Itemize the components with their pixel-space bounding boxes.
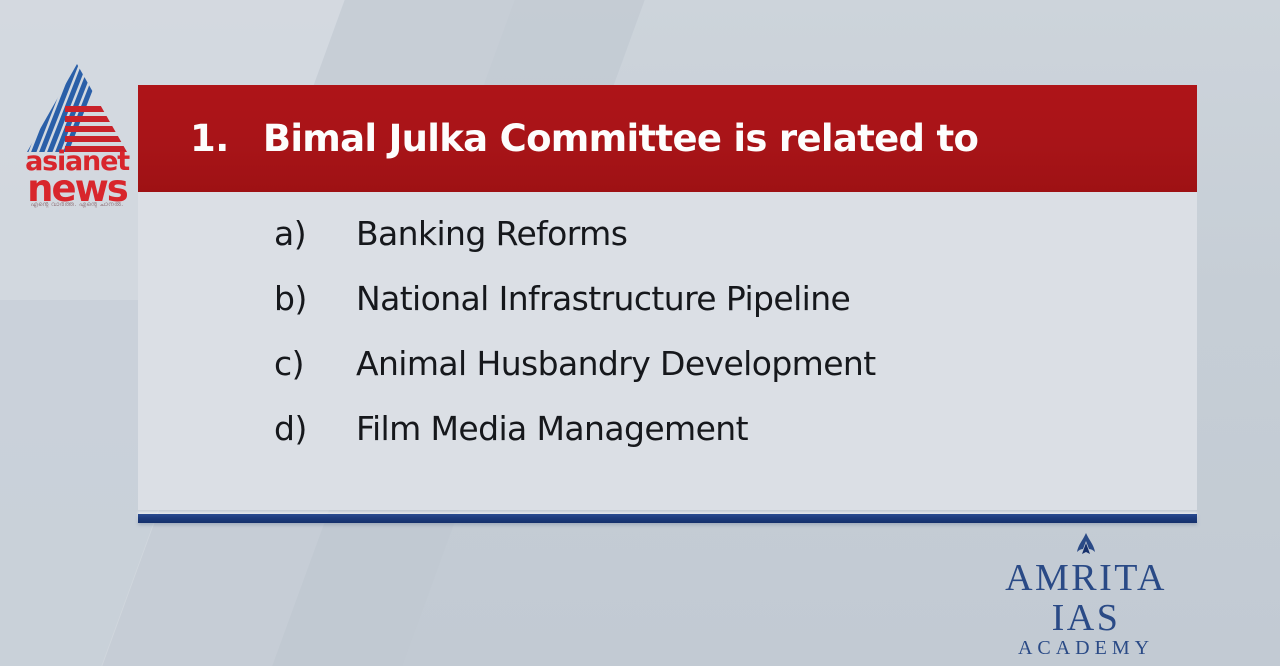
option-row-d[interactable]: d) Film Media Management [138,409,1197,474]
striped-triangle-icon [25,62,129,154]
amrita-subtitle: ACADEMY [966,637,1206,659]
option-row-b[interactable]: b) National Infrastructure Pipeline [138,279,1197,344]
option-letter-a: a) [274,214,356,253]
option-text-c: Animal Husbandry Development [356,344,876,383]
option-text-d: Film Media Management [356,409,748,448]
question-title: Bimal Julka Committee is related to [263,117,978,160]
option-letter-b: b) [274,279,356,318]
option-text-b: National Infrastructure Pipeline [356,279,850,318]
amrita-ias-academy-logo: AMRITA IAS ACADEMY [966,532,1206,659]
card-bottom-rule [138,514,1197,523]
question-card: 1. Bimal Julka Committee is related to a… [138,85,1197,523]
asianet-news-logo: asianet news എന്റെ വാർത്ത. എന്റെ ചാനൽ. [18,62,136,210]
option-row-c[interactable]: c) Animal Husbandry Development [138,344,1197,409]
option-row-a[interactable]: a) Banking Reforms [138,214,1197,279]
question-header: 1. Bimal Julka Committee is related to [138,85,1197,192]
option-text-a: Banking Reforms [356,214,627,253]
question-number: 1. [190,117,229,160]
option-letter-c: c) [274,344,356,383]
asianet-tagline: എന്റെ വാർത്ത. എന്റെ ചാനൽ. [18,202,136,208]
options-list: a) Banking Reforms b) National Infrastru… [138,192,1197,510]
slide-root: asianet news എന്റെ വാർത്ത. എന്റെ ചാനൽ. 1… [0,0,1280,666]
option-letter-d: d) [274,409,356,448]
amrita-name: AMRITA IAS [966,559,1206,639]
